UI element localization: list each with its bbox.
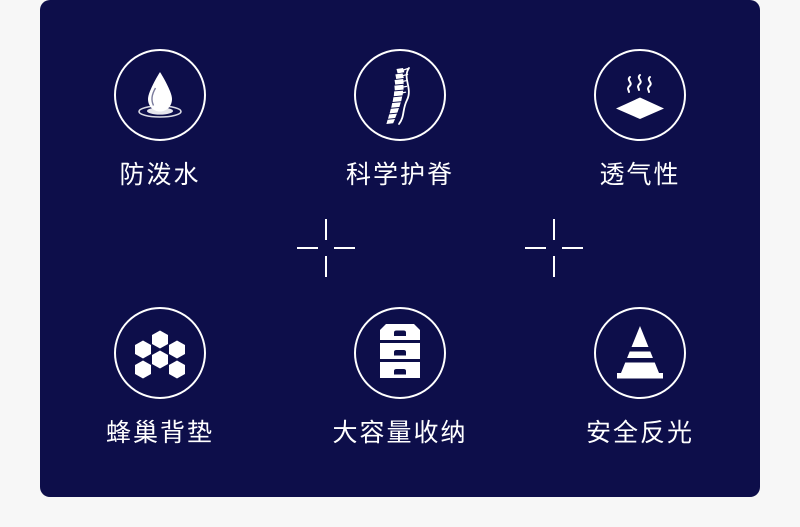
crosshair-arm-right: [334, 247, 355, 249]
feature-label: 蜂巢背垫: [106, 421, 214, 446]
drawers-icon: [354, 307, 446, 399]
crosshair-arm-right: [562, 247, 583, 249]
spine-icon: [354, 49, 446, 141]
feature-label: 安全反光: [586, 421, 694, 446]
crosshair-arm-bottom: [553, 256, 555, 277]
crosshair-arm-left: [297, 247, 318, 249]
water-droplet-icon: [114, 49, 206, 141]
feature-item-breathability[interactable]: 透气性: [594, 49, 686, 188]
crosshair-arm-bottom: [325, 256, 327, 277]
crosshair-arm-top: [553, 219, 555, 240]
crosshair-icon: [297, 219, 355, 277]
breathable-mesh-icon: [594, 49, 686, 141]
honeycomb-icon: [114, 307, 206, 399]
crosshair-icon: [525, 219, 583, 277]
traffic-cone-icon: [594, 307, 686, 399]
crosshair-arm-left: [525, 247, 546, 249]
feature-label: 科学护脊: [346, 163, 454, 188]
feature-label: 大容量收纳: [332, 421, 467, 446]
crosshair-arm-top: [325, 219, 327, 240]
feature-label: 透气性: [599, 163, 680, 188]
feature-item-honeycomb-back-pad[interactable]: 蜂巢背垫: [106, 307, 214, 446]
feature-item-water-repellent[interactable]: 防泼水: [114, 49, 206, 188]
feature-item-safety-reflective[interactable]: 安全反光: [586, 307, 694, 446]
feature-label: 防泼水: [119, 163, 200, 188]
feature-item-large-capacity-storage[interactable]: 大容量收纳: [332, 307, 467, 446]
feature-grid: 防泼水: [40, 0, 760, 497]
feature-item-spine-support[interactable]: 科学护脊: [346, 49, 454, 188]
feature-panel: 防泼水: [40, 0, 760, 497]
